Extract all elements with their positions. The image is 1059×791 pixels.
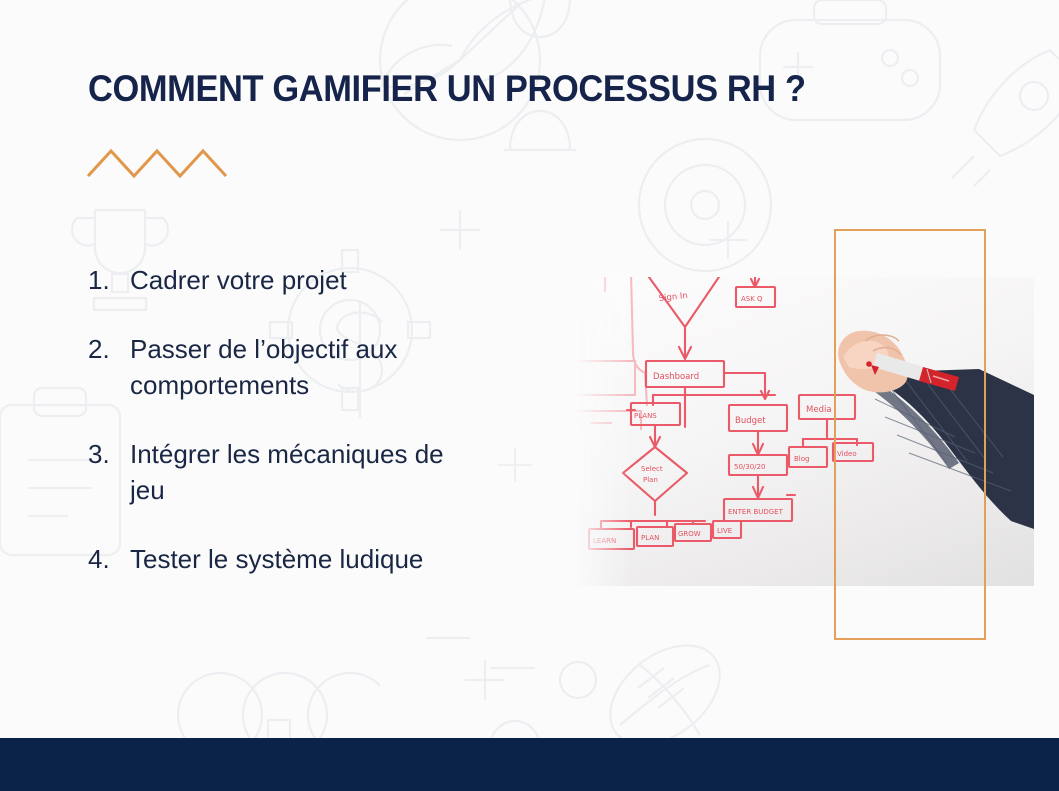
page-title: COMMENT GAMIFIER UN PROCESSUS RH ? xyxy=(88,68,806,110)
svg-text:Sign In: Sign In xyxy=(658,291,688,304)
watermark-dash-icon xyxy=(485,658,545,678)
list-item: 2. Passer de l’objectif aux comportement… xyxy=(88,331,568,403)
list-item-number: 1. xyxy=(88,262,130,298)
list-item: 4. Tester le système ludique xyxy=(88,541,568,577)
svg-text:Plan: Plan xyxy=(643,476,658,484)
slide: COMMENT GAMIFIER UN PROCESSUS RH ? 1. Ca… xyxy=(0,0,1059,791)
watermark-dash-icon xyxy=(420,628,480,648)
whiteboard-photo: .ink { fill:none; stroke:#ea5a68; stroke… xyxy=(575,277,1034,586)
svg-text:ASK Q: ASK Q xyxy=(741,295,763,303)
list-item: 3. Intégrer les mécaniques de jeu xyxy=(88,436,568,508)
watermark-target-icon xyxy=(620,120,790,290)
list-item: 1. Cadrer votre projet xyxy=(88,262,568,298)
svg-text:Budget: Budget xyxy=(735,416,766,426)
svg-text:50/30/20: 50/30/20 xyxy=(734,463,765,471)
svg-text:PLANS: PLANS xyxy=(634,412,657,420)
svg-text:LEARN: LEARN xyxy=(593,537,616,545)
list-item-number: 2. xyxy=(88,331,130,367)
list-item-label: Tester le système ludique xyxy=(130,541,423,577)
svg-text:Blog: Blog xyxy=(794,455,809,463)
svg-text:Select: Select xyxy=(641,465,663,473)
list-item-number: 3. xyxy=(88,436,130,472)
svg-text:GROW: GROW xyxy=(678,530,701,538)
svg-text:Dashboard: Dashboard xyxy=(653,372,699,382)
list-item-number: 4. xyxy=(88,541,130,577)
list-item-label: Passer de l’objectif aux comportements xyxy=(130,331,460,403)
bottom-bar xyxy=(0,738,1059,791)
list-item-label: Intégrer les mécaniques de jeu xyxy=(130,436,460,508)
orange-zigzag-divider xyxy=(86,145,230,181)
svg-text:Media: Media xyxy=(806,405,832,415)
svg-text:Video: Video xyxy=(837,450,857,458)
watermark-plus-icon xyxy=(430,200,490,260)
svg-text:PLAN: PLAN xyxy=(641,534,659,542)
watermark-plus-icon xyxy=(700,212,756,268)
svg-text:LIVE: LIVE xyxy=(717,527,732,535)
watermark-rocket-icon xyxy=(930,30,1059,200)
svg-text:ENTER BUDGET: ENTER BUDGET xyxy=(728,508,784,516)
whiteboard-flowchart-drawing: .ink { fill:none; stroke:#ea5a68; stroke… xyxy=(575,277,1034,586)
list-item-label: Cadrer votre projet xyxy=(130,262,347,298)
watermark-plus-icon xyxy=(455,650,515,710)
agenda-list: 1. Cadrer votre projet 2. Passer de l’ob… xyxy=(88,262,568,577)
watermark-circle-icon xyxy=(548,650,608,710)
